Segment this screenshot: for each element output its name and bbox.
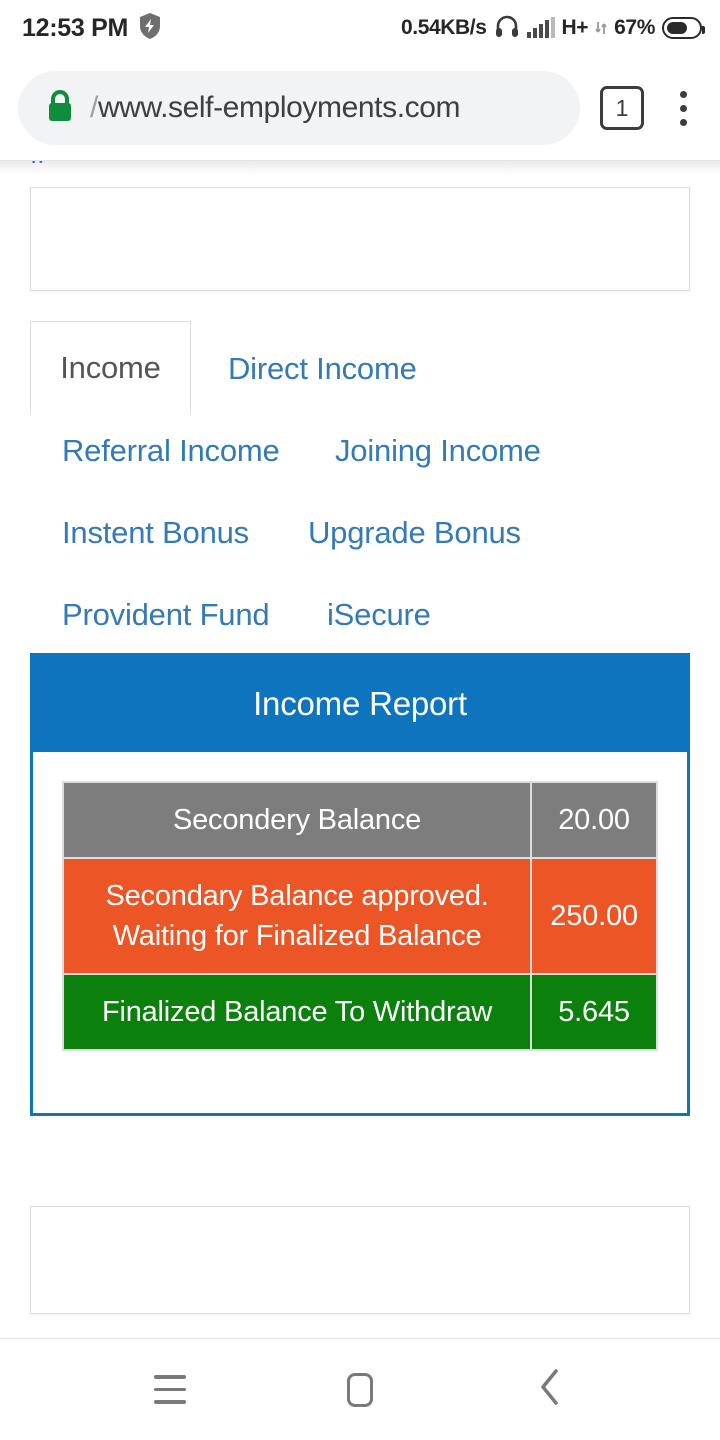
webpage-viewport[interactable]: :: Income Direct Income Referral Income … [0, 160, 720, 1338]
row-label: Secondary Balance approved. Waiting for … [64, 859, 530, 973]
data-transfer-arrows-icon [595, 18, 607, 38]
tab-switcher-button[interactable]: 1 [600, 86, 644, 130]
overflow-menu-icon[interactable] [660, 80, 706, 136]
link-referral-income[interactable]: Referral Income [62, 433, 280, 469]
url-text[interactable]: /www.self-employments.com [90, 91, 460, 125]
row-value: 250.00 [532, 859, 656, 973]
recents-button[interactable] [130, 1355, 210, 1425]
lock-icon[interactable] [44, 88, 76, 129]
status-bar: 12:53 PM 0.54KB/s H+ [0, 0, 720, 56]
tab-income-label: Income [60, 350, 160, 386]
table-row: Secondery Balance 20.00 [64, 783, 656, 857]
headphone-icon [494, 13, 520, 44]
back-chevron-icon [536, 1367, 564, 1412]
url-scheme: / [90, 91, 98, 124]
link-provident-fund[interactable]: Provident Fund [62, 597, 269, 633]
row-value: 20.00 [532, 783, 656, 857]
table-row: Finalized Balance To Withdraw 5.645 [64, 975, 656, 1049]
browser-toolbar: /www.self-employments.com 1 [0, 56, 720, 160]
income-report-title: Income Report [253, 685, 467, 723]
income-report-body: Secondery Balance 20.00 Secondary Balanc… [33, 752, 687, 1113]
recents-icon [154, 1375, 186, 1404]
battery-icon [662, 17, 702, 39]
income-report-panel: Income Report Secondery Balance 20.00 Se… [30, 653, 690, 1116]
network-speed-label: 0.54KB/s [401, 16, 487, 40]
status-bar-right: 0.54KB/s H+ 67% [401, 13, 702, 44]
income-report-table: Secondery Balance 20.00 Secondary Balanc… [62, 781, 658, 1051]
row-label: Finalized Balance To Withdraw [64, 975, 530, 1049]
link-direct-income[interactable]: Direct Income [228, 351, 417, 387]
status-clock: 12:53 PM [22, 14, 128, 43]
link-upgrade-bonus[interactable]: Upgrade Bonus [308, 515, 521, 551]
link-isecure[interactable]: iSecure [327, 597, 431, 633]
network-type-label: H+ [562, 16, 589, 40]
url-host: www.self-employments.com [98, 91, 460, 124]
home-icon [347, 1373, 373, 1407]
home-button[interactable] [320, 1355, 400, 1425]
row-value: 5.645 [532, 975, 656, 1049]
page-top-shadow [0, 161, 720, 175]
shield-bolt-icon [138, 12, 162, 45]
url-bar[interactable]: /www.self-employments.com [18, 71, 580, 145]
back-button[interactable] [510, 1355, 590, 1425]
ad-placeholder-top[interactable] [30, 187, 690, 291]
income-report-header: Income Report [33, 656, 687, 752]
clipped-text-above: :: [30, 160, 44, 165]
row-label: Secondery Balance [64, 783, 530, 857]
status-bar-left: 12:53 PM [22, 12, 162, 45]
table-row: Secondary Balance approved. Waiting for … [64, 859, 656, 973]
signal-bars-icon [527, 18, 555, 38]
ad-placeholder-bottom[interactable] [30, 1206, 690, 1314]
phone-screen: 12:53 PM 0.54KB/s H+ [0, 0, 720, 1440]
link-instent-bonus[interactable]: Instent Bonus [62, 515, 249, 551]
battery-percent-label: 67% [614, 16, 655, 40]
android-navigation-bar [0, 1338, 720, 1440]
tab-income[interactable]: Income [30, 321, 191, 415]
link-joining-income[interactable]: Joining Income [335, 433, 541, 469]
